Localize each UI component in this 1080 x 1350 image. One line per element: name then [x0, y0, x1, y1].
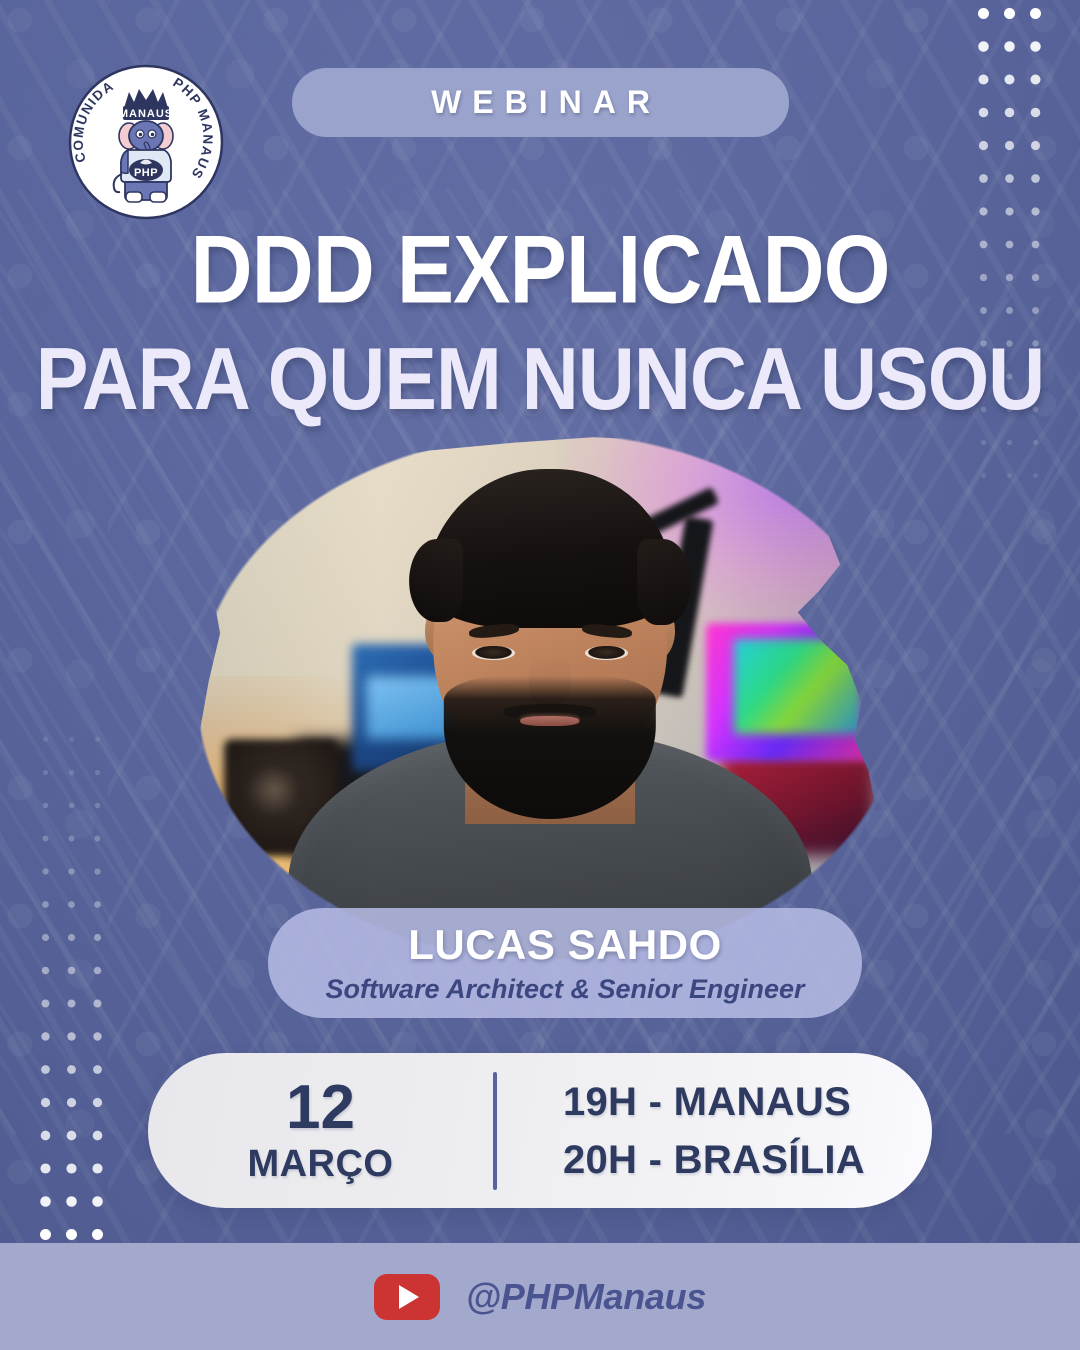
footer-bar: @PHPManaus — [0, 1243, 1080, 1350]
play-triangle-icon — [399, 1285, 419, 1309]
title-line-1: DDD EXPLICADO — [0, 222, 1080, 318]
svg-text:MANAUS: MANAUS — [119, 108, 173, 120]
date-month: MARÇO — [247, 1145, 393, 1183]
time-block: 19H - MANAUS 20H - BRASÍLIA — [497, 1073, 932, 1189]
youtube-icon[interactable] — [374, 1274, 440, 1320]
speaker-name: LUCAS SAHDO — [408, 924, 722, 966]
webinar-badge-label: WEBINAR — [420, 84, 661, 121]
date-time-card: 12 MARÇO 19H - MANAUS 20H - BRASÍLIA — [148, 1053, 932, 1208]
date-day: 12 — [286, 1078, 355, 1139]
date-block: 12 MARÇO — [148, 1078, 493, 1183]
speaker-photo — [196, 432, 904, 962]
speaker-photo-image — [196, 432, 904, 962]
speaker-photo-brush-mask — [196, 432, 904, 962]
speaker-info-pill: LUCAS SAHDO Software Architect & Senior … — [268, 908, 862, 1018]
time-manaus: 19H - MANAUS — [563, 1073, 932, 1131]
time-brasilia: 20H - BRASÍLIA — [563, 1131, 932, 1189]
speaker-role: Software Architect & Senior Engineer — [325, 976, 804, 1003]
photo-grain — [196, 432, 904, 962]
php-manaus-logo: COMUNIDADE PHP MANAUS MANAUS PHP — [66, 62, 226, 222]
webinar-poster: COMUNIDADE PHP MANAUS MANAUS PHP — [0, 0, 1080, 1350]
dot-grid-bottom-left — [32, 734, 110, 1240]
svg-text:PHP: PHP — [134, 167, 158, 179]
title-line-2: PARA QUEM NUNCA USOU — [0, 334, 1080, 422]
webinar-badge: WEBINAR — [292, 68, 789, 137]
page-title: DDD EXPLICADO PARA QUEM NUNCA USOU — [0, 222, 1080, 413]
youtube-handle[interactable]: @PHPManaus — [466, 1276, 706, 1318]
